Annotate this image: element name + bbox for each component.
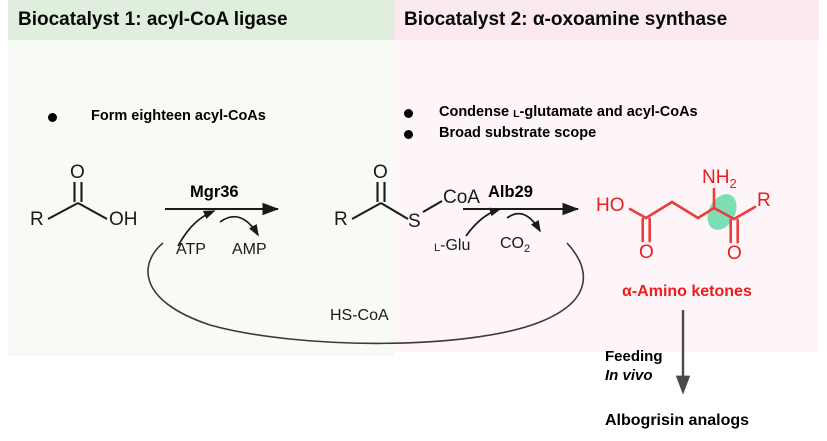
atom-O-intermediate-carbonyl: O: [373, 163, 388, 182]
label-feeding-in-vivo: Feeding In vivo: [605, 347, 663, 385]
panel-biocatalyst-2-header-label: Biocatalyst 2: α-oxoamine synthase: [404, 9, 727, 31]
atom-R-intermediate: R: [334, 210, 348, 229]
panel-2-bullet-list: Condense L-glutamate and acyl-CoAs Broad…: [404, 104, 698, 145]
cofactor-atp: ATP: [176, 241, 206, 259]
label-in-vivo: In vivo: [605, 367, 653, 384]
bullet-label: Form eighteen acyl-CoAs: [91, 108, 266, 125]
cofactor-l-glutamate: L-Glu: [434, 237, 470, 255]
atom-HO-product: HO: [596, 196, 625, 215]
atom-NH2-product: NH2: [702, 168, 737, 190]
cofactor-co2: CO2: [500, 235, 530, 255]
label-feeding: Feeding: [605, 348, 663, 365]
list-item: Condense L-glutamate and acyl-CoAs: [404, 104, 698, 122]
bullet-label: Condense L-glutamate and acyl-CoAs: [439, 104, 698, 122]
panel-biocatalyst-1-header: Biocatalyst 1: acyl-CoA ligase: [8, 0, 394, 40]
cofactor-amp: AMP: [232, 241, 267, 259]
label-hs-coa: HS-CoA: [330, 307, 389, 325]
atom-O-product-ketone: O: [727, 244, 742, 263]
atom-R-product: R: [757, 191, 771, 210]
enzyme-label-mgr36: Mgr36: [190, 183, 239, 202]
panel-biocatalyst-1-header-label: Biocatalyst 1: acyl-CoA ligase: [18, 9, 288, 31]
bullet-label: Broad substrate scope: [439, 125, 596, 142]
bullet-dot-icon: [404, 130, 413, 139]
atom-O-product-acid: O: [639, 243, 654, 262]
atom-CoA-intermediate: CoA: [443, 188, 480, 207]
panel-biocatalyst-2-header: Biocatalyst 2: α-oxoamine synthase: [394, 0, 819, 40]
atom-OH-substrate: OH: [109, 210, 138, 229]
list-item: Form eighteen acyl-CoAs: [48, 108, 266, 125]
bullet-dot-icon: [48, 113, 57, 122]
enzyme-label-alb29: Alb29: [488, 183, 533, 202]
atom-O-substrate-carbonyl: O: [70, 163, 85, 182]
label-albogrisin-analogs: Albogrisin analogs: [605, 412, 749, 430]
panel-1-bullet-list: Form eighteen acyl-CoAs: [48, 108, 266, 128]
list-item: Broad substrate scope: [404, 125, 698, 142]
atom-S-intermediate: S: [408, 212, 421, 231]
bullet-dot-icon: [404, 109, 413, 118]
figure-root: In vitro one-pot two-step cascade reacti…: [0, 0, 827, 441]
label-alpha-amino-ketones: α-Amino ketones: [622, 283, 752, 301]
atom-R-substrate: R: [30, 210, 44, 229]
